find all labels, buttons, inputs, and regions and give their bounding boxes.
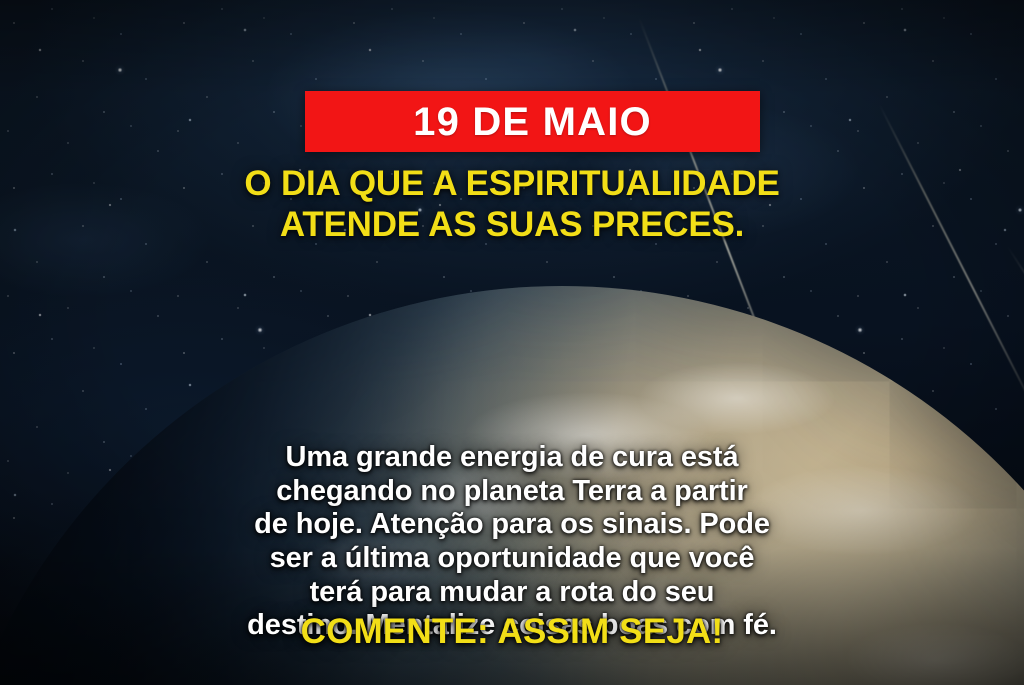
date-banner-text: 19 DE MAIO <box>413 102 652 142</box>
headline-line-2: ATENDE AS SUAS PRECES. <box>44 205 980 246</box>
headline: O DIA QUE A ESPIRITUALIDADE ATENDE AS SU… <box>0 164 1024 245</box>
call-to-action: COMENTE: ASSIM SEJA! <box>0 613 1024 652</box>
poster-content: 19 DE MAIO O DIA QUE A ESPIRITUALIDADE A… <box>0 0 1024 685</box>
body-line-4: ser a última oportunidade que você <box>58 542 966 576</box>
body-line-3: de hoje. Atenção para os sinais. Pode <box>58 508 966 542</box>
body-line-5: terá para mudar a rota do seu <box>58 576 966 610</box>
poster-canvas: 19 DE MAIO O DIA QUE A ESPIRITUALIDADE A… <box>0 0 1024 685</box>
headline-line-1: O DIA QUE A ESPIRITUALIDADE <box>44 164 980 205</box>
call-to-action-text: COMENTE: ASSIM SEJA! <box>301 612 724 651</box>
date-banner: 19 DE MAIO <box>305 91 760 152</box>
body-line-1: Uma grande energia de cura está <box>58 441 966 475</box>
body-line-2: chegando no planeta Terra a partir <box>58 475 966 509</box>
